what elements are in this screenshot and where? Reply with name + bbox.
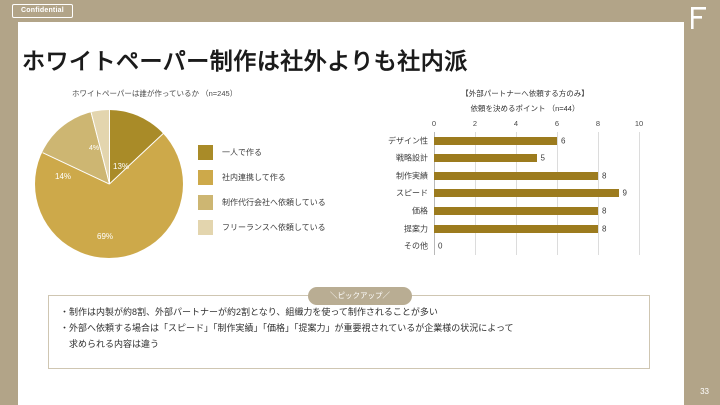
legend-item: フリーランスへ依頼している: [198, 215, 326, 240]
bar-chart-bar: [434, 225, 598, 233]
legend-label: 一人で作る: [222, 147, 262, 158]
pickup-bullet-2: ・外部へ依頼する場合は「スピード」「制作実績」「価格」「提案力」が重要視されてい…: [60, 321, 640, 337]
pie-chart-panel: ホワイトペーパーは誰が作っているか （n=245） 13% 69% 14% 4%…: [30, 88, 360, 268]
bar-chart-category-label: 制作実績: [396, 170, 428, 181]
brand-logo-icon: [688, 5, 710, 31]
bar-chart-category-label: スピード: [396, 188, 428, 199]
top-banner: [0, 0, 720, 22]
right-frame-strip: [684, 0, 720, 405]
pie-slice-label-13: 13%: [113, 162, 129, 171]
bar-chart-category-label: デザイン性: [388, 135, 428, 146]
pie-slice-label-69: 69%: [97, 232, 113, 241]
pie-chart-legend: 一人で作る 社内連携して作る 制作代行会社へ依頼している フリーランスへ依頼して…: [198, 140, 326, 240]
confidential-badge: Confidential: [12, 4, 73, 18]
pie-chart-title: ホワイトペーパーは誰が作っているか （n=245）: [72, 88, 237, 99]
pie-chart: 13% 69% 14% 4%: [35, 110, 183, 258]
bar-chart-title-line2: 依頼を決めるポイント （n=44）: [380, 103, 670, 114]
legend-label: フリーランスへ依頼している: [222, 222, 326, 233]
pie-slice-label-14: 14%: [55, 172, 71, 181]
bar-chart-value-label: 8: [602, 171, 606, 180]
legend-item: 社内連携して作る: [198, 165, 326, 190]
bar-chart-row: 提案力8: [434, 220, 639, 238]
legend-swatch-icon: [198, 220, 213, 235]
legend-label: 社内連携して作る: [222, 172, 286, 183]
pickup-bullet-1: ・制作は内製が約8割、外部パートナーが約2割となり、組織力を使って制作されること…: [60, 305, 640, 321]
bar-chart-bar: [434, 189, 619, 197]
bar-chart-row: スピード9: [434, 185, 639, 203]
pickup-bullet-2-cont: 求められる内容は違う: [60, 337, 640, 353]
pickup-text: ・制作は内製が約8割、外部パートナーが約2割となり、組織力を使って制作されること…: [60, 305, 640, 352]
pie-separator: [109, 110, 110, 184]
page-number: 33: [700, 388, 709, 396]
bar-chart-value-label: 8: [602, 207, 606, 216]
pie-separator: [42, 152, 110, 185]
bar-chart-x-tick: 0: [432, 119, 436, 128]
bar-chart-gridline: [639, 132, 640, 255]
page-title: ホワイトペーパー制作は社外よりも社内派: [22, 42, 468, 76]
bar-chart-title-line1: 【外部パートナーへ依頼する方のみ】: [380, 88, 670, 99]
bar-chart-bar: [434, 137, 557, 145]
legend-item: 制作代行会社へ依頼している: [198, 190, 326, 215]
legend-swatch-icon: [198, 195, 213, 210]
bar-chart-row: 戦略設計5: [434, 150, 639, 168]
bar-chart-value-label: 6: [561, 136, 565, 145]
bar-chart-x-tick: 6: [555, 119, 559, 128]
bar-chart-category-label: 提案力: [404, 223, 428, 234]
bar-chart-row: その他0: [434, 237, 639, 255]
bar-chart-bar: [434, 154, 537, 162]
bar-chart-bar: [434, 172, 598, 180]
bar-chart-category-label: 価格: [412, 206, 428, 217]
bar-chart-value-label: 5: [541, 154, 545, 163]
legend-item: 一人で作る: [198, 140, 326, 165]
bar-chart-category-label: その他: [404, 241, 428, 252]
bar-chart-bar: [434, 207, 598, 215]
bar-chart-row: デザイン性6: [434, 132, 639, 150]
bar-chart-panel: 【外部パートナーへ依頼する方のみ】 依頼を決めるポイント （n=44） 0246…: [372, 88, 662, 273]
legend-label: 制作代行会社へ依頼している: [222, 197, 326, 208]
bar-chart-value-label: 0: [438, 242, 442, 251]
bar-chart-plot: 0246810デザイン性6戦略設計5制作実績8スピード9価格8提案力8その他0: [434, 132, 639, 255]
pickup-tab-label: ＼ピックアップ／: [308, 287, 412, 305]
bar-chart-value-label: 8: [602, 224, 606, 233]
legend-swatch-icon: [198, 145, 213, 160]
bar-chart-x-tick: 10: [635, 119, 643, 128]
slide: Confidential 33 ホワイトペーパー制作は社外よりも社内派 ホワイト…: [0, 0, 720, 405]
bar-chart-category-label: 戦略設計: [396, 153, 428, 164]
bar-chart-value-label: 9: [623, 189, 627, 198]
bar-chart-row: 価格8: [434, 202, 639, 220]
bar-chart-x-tick: 2: [473, 119, 477, 128]
bar-chart-row: 制作実績8: [434, 167, 639, 185]
bar-chart-x-tick: 8: [596, 119, 600, 128]
left-frame-strip: [0, 0, 18, 405]
pie-slice-label-4: 4%: [89, 145, 99, 152]
legend-swatch-icon: [198, 170, 213, 185]
bar-chart-x-tick: 4: [514, 119, 518, 128]
pie-separator: [109, 133, 164, 185]
